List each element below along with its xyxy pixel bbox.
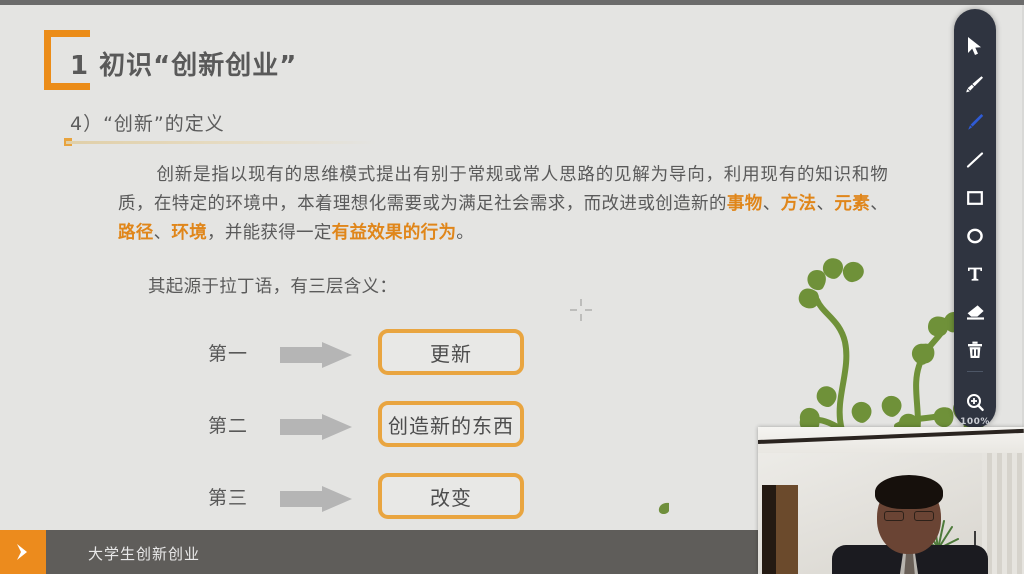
text-icon[interactable] — [954, 255, 996, 293]
webcam-person-hair — [875, 475, 943, 509]
annotation-toolbar[interactable]: 100% — [954, 9, 996, 428]
flow-label: 第三 — [208, 483, 248, 510]
keyword-method: 方法 — [781, 194, 817, 214]
ellipse-icon[interactable] — [954, 217, 996, 255]
footer-badge — [0, 530, 46, 574]
webcam-person-glasses — [884, 511, 934, 521]
chevron-right-icon — [14, 542, 32, 562]
flow-label: 第一 — [208, 339, 248, 366]
keyword-environment: 环境 — [171, 223, 207, 243]
origin-paragraph: 其起源于拉丁语，有三层含义： — [148, 273, 668, 302]
definition-text-mid: ，并能获得一定 — [207, 223, 332, 243]
toolbar-divider — [967, 371, 983, 372]
flow-chip[interactable]: 改变 — [378, 473, 524, 519]
flow-chip[interactable]: 创造新的东西 — [378, 401, 524, 447]
zoom-in-icon[interactable] — [954, 383, 996, 421]
flow-row: 第三 改变 — [208, 475, 528, 521]
sep-4: 、 — [154, 223, 172, 243]
flow-row: 第二 创造新的东西 — [208, 403, 528, 449]
arrow-right-icon — [280, 342, 352, 368]
presentation-viewer: 1 初识“创新创业” 4）“创新”的定义 创新是指以现有的思维模式提出有别于常规… — [0, 0, 1024, 574]
crosshair-cursor — [570, 299, 592, 321]
definition-paragraph: 创新是指以现有的思维模式提出有别于常规或常人思路的见解为导向，利用现有的知识和物… — [118, 161, 888, 248]
footer-title: 大学生创新创业 — [88, 543, 200, 564]
page-title: 1 初识“创新创业” — [70, 45, 297, 82]
keyword-element: 元素 — [834, 194, 870, 214]
definition-text-end: 。 — [456, 223, 474, 243]
webcam-door-frame — [762, 485, 776, 574]
rectangle-icon[interactable] — [954, 179, 996, 217]
arrow-right-icon — [280, 414, 352, 440]
pen-icon[interactable] — [954, 103, 996, 141]
arrow-right-icon — [280, 486, 352, 512]
webcam-video-overlay[interactable] — [758, 427, 1024, 574]
flow-chip-label: 改变 — [430, 482, 472, 511]
flow-label: 第二 — [208, 411, 248, 438]
webcam-curtain — [982, 453, 1024, 574]
sep-3: 、 — [870, 194, 888, 214]
leaf-icon — [658, 502, 671, 515]
flow-chip-label: 更新 — [430, 338, 472, 367]
flow-chip-label: 创造新的东西 — [388, 410, 514, 439]
cursor-icon[interactable] — [954, 27, 996, 65]
subsection-rule — [66, 141, 378, 144]
subsection-title: 4）“创新”的定义 — [70, 109, 225, 136]
sep-2: 、 — [816, 194, 834, 214]
trash-icon[interactable] — [954, 331, 996, 369]
keyword-beneficial-behavior: 有益效果的行为 — [332, 223, 457, 243]
highlighter-icon[interactable] — [954, 65, 996, 103]
flow-chip[interactable]: 更新 — [378, 329, 524, 375]
flow-row: 第一 更新 — [208, 331, 528, 377]
eraser-icon[interactable] — [954, 293, 996, 331]
zoom-level-label: 100% — [954, 417, 996, 427]
keyword-path: 路径 — [118, 223, 154, 243]
line-icon[interactable] — [954, 141, 996, 179]
sep-1: 、 — [763, 194, 781, 214]
keyword-things: 事物 — [727, 194, 763, 214]
